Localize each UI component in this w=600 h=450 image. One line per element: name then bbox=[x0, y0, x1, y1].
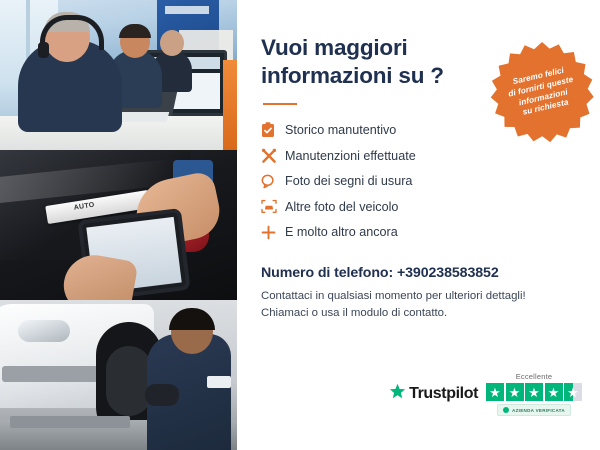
list-item-label: E molto altro ancora bbox=[285, 225, 398, 239]
star-filled: ★ bbox=[506, 383, 524, 401]
callout-badge: Saremo felici di fornirti queste informa… bbox=[490, 40, 594, 144]
car-headlight bbox=[18, 320, 70, 342]
star-partial: ★ bbox=[564, 383, 582, 401]
list-item: Altre foto del veicolo bbox=[261, 194, 578, 220]
headset-band bbox=[40, 15, 104, 50]
vehicle-inspection-photo bbox=[0, 150, 237, 300]
orange-divider-edge bbox=[223, 60, 237, 150]
list-item-label: Foto dei segni di usura bbox=[285, 174, 412, 188]
mechanic-wheel-photo bbox=[0, 300, 237, 450]
list-item: E molto altro ancora bbox=[261, 219, 578, 245]
rating-label: Eccellente bbox=[516, 372, 553, 381]
car-grille bbox=[2, 366, 106, 382]
trustpilot-badge[interactable]: Trustpilot Eccellente ★ ★ ★ ★ ★ AZIENDA … bbox=[389, 372, 582, 416]
trustpilot-row: Trustpilot Eccellente ★ ★ ★ ★ ★ AZIENDA … bbox=[389, 372, 582, 416]
contact-line-2: Chiamaci o usa il modulo di contatto. bbox=[261, 307, 447, 319]
list-item-label: Altre foto del veicolo bbox=[285, 200, 398, 214]
car-lift-ramp bbox=[10, 416, 130, 428]
star-filled: ★ bbox=[545, 383, 563, 401]
contact-line-1: Contattaci in qualsiasi momento per ulte… bbox=[261, 290, 526, 302]
agent-two-hair bbox=[119, 24, 151, 38]
star-rating: ★ ★ ★ ★ ★ bbox=[486, 383, 582, 401]
photo-column bbox=[0, 0, 237, 450]
trustpilot-wordmark: Trustpilot bbox=[409, 385, 478, 403]
verified-company-badge: AZIENDA VERIFICATA bbox=[497, 404, 571, 416]
contact-instructions: Contattaci in qualsiasi momento per ulte… bbox=[261, 288, 578, 322]
clipboard-check-icon bbox=[261, 122, 285, 138]
agent-three-head bbox=[160, 30, 184, 56]
trustpilot-logo: Trustpilot bbox=[389, 383, 478, 405]
promo-banner: Vuoi maggiori informazioni su ? Storico … bbox=[0, 0, 600, 450]
verified-check-icon bbox=[503, 407, 509, 413]
trustpilot-star-icon bbox=[389, 383, 406, 405]
headset-earpad bbox=[38, 42, 49, 58]
list-item: Foto dei segni di usura bbox=[261, 168, 578, 194]
uniform-logo-patch bbox=[207, 376, 231, 388]
phone-line: Numero di telefono: +390238583852 bbox=[261, 265, 578, 281]
heading-line-1: Vuoi maggiori bbox=[261, 35, 408, 60]
call-center-agents-photo bbox=[0, 0, 237, 150]
star-filled: ★ bbox=[525, 383, 543, 401]
phone-number[interactable]: +390238583852 bbox=[397, 265, 499, 281]
callout-text: Saremo felici di fornirti queste informa… bbox=[505, 64, 579, 121]
title-divider bbox=[263, 103, 297, 106]
content-panel: Vuoi maggiori informazioni su ? Storico … bbox=[237, 0, 600, 450]
crossed-tools-icon bbox=[261, 148, 285, 164]
star-filled: ★ bbox=[486, 383, 504, 401]
list-item-label: Manutenzioni effettuate bbox=[285, 149, 416, 163]
callout-content: Saremo felici di fornirti queste informa… bbox=[490, 40, 594, 144]
magnifier-icon bbox=[261, 174, 285, 189]
list-item: Manutenzioni effettuate bbox=[261, 143, 578, 169]
heading-line-2: informazioni su ? bbox=[261, 63, 444, 88]
mechanic-glove bbox=[145, 384, 179, 406]
verified-label: AZIENDA VERIFICATA bbox=[512, 408, 565, 413]
trustpilot-rating: Eccellente ★ ★ ★ ★ ★ AZIENDA VERIFICATA bbox=[486, 372, 582, 416]
car-frame-icon bbox=[261, 199, 285, 214]
phone-label: Numero di telefono: bbox=[261, 265, 393, 281]
mechanic-hair bbox=[169, 308, 215, 330]
list-item-label: Storico manutentivo bbox=[285, 123, 396, 137]
plus-icon bbox=[261, 225, 285, 240]
